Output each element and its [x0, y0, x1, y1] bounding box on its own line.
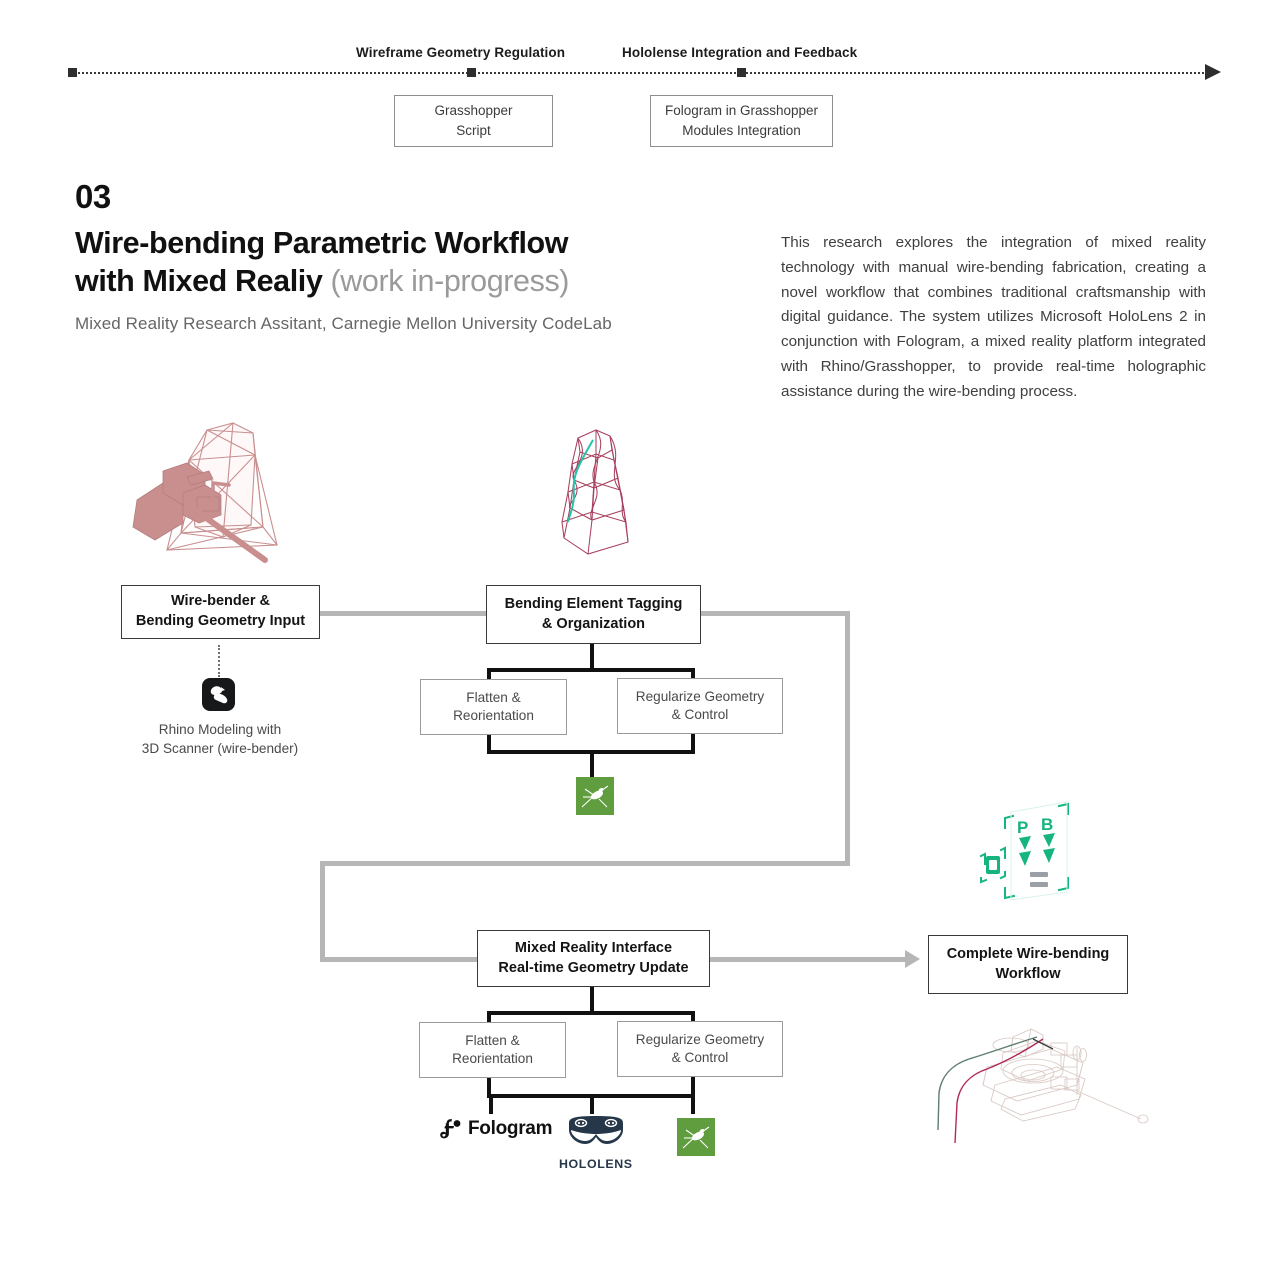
connector-dotted-rhino — [218, 645, 220, 677]
connector-mr-to-complete — [708, 957, 908, 962]
branch-logo-stem-mid — [590, 1094, 594, 1114]
node-mixed-reality-line1: Mixed Reality Interface — [498, 939, 688, 959]
node-regularize-top-line1: Regularize Geometry — [636, 688, 764, 706]
branch-logo-stem-left — [489, 1094, 493, 1114]
fologram-mark-icon — [440, 1117, 462, 1141]
timeline-box-grasshopper-script: Grasshopper Script — [394, 95, 553, 147]
node-tagging-line1: Bending Element Tagging — [505, 595, 683, 615]
timeline-marker-1 — [467, 68, 476, 77]
node-regularize-geometry-bottom[interactable]: Regularize Geometry & Control — [617, 1021, 783, 1077]
node-mixed-reality-line2: Real-time Geometry Update — [498, 959, 688, 979]
caption-rhino-modeling: Rhino Modeling with 3D Scanner (wire-ben… — [120, 720, 320, 759]
node-bending-element-tagging[interactable]: Bending Element Tagging & Organization — [486, 585, 701, 644]
branch-top-stem — [590, 641, 594, 671]
caption-rhino-line2: 3D Scanner (wire-bender) — [120, 739, 320, 758]
branch-bottom-stem — [590, 985, 594, 1014]
twisted-wireframe-model-image — [548, 418, 653, 570]
caption-rhino-line1: Rhino Modeling with — [120, 720, 320, 739]
grasshopper-icon-top[interactable] — [576, 777, 614, 815]
abstract-paragraph: This research explores the integration o… — [781, 231, 1206, 404]
connector-loop-bottom — [320, 861, 850, 866]
svg-text:P: P — [1017, 818, 1028, 837]
node-wire-bender-line2: Bending Geometry Input — [136, 612, 305, 632]
timeline-marker-2 — [737, 68, 746, 77]
node-flatten-top-line2: Reorientation — [453, 707, 534, 725]
timeline-box-1-line2: Script — [434, 121, 512, 141]
timeline-phase-label-2: Hololense Integration and Feedback — [622, 45, 857, 60]
node-complete-workflow[interactable]: Complete Wire-bending Workflow — [928, 935, 1128, 994]
connector-right-down — [845, 611, 850, 865]
project-number: 03 — [75, 180, 735, 213]
timeline-box-1-line1: Grasshopper — [434, 101, 512, 121]
node-regularize-geometry-top[interactable]: Regularize Geometry & Control — [617, 678, 783, 734]
connector-into-mixed-reality — [320, 957, 485, 962]
node-mixed-reality-interface[interactable]: Mixed Reality Interface Real-time Geomet… — [477, 930, 710, 987]
fologram-label: Fologram — [468, 1118, 552, 1140]
node-flatten-reorientation-top[interactable]: Flatten & Reorientation — [420, 679, 567, 735]
title-block: 03 Wire-bending Parametric Workflow with… — [75, 180, 735, 334]
page-title-line2: with Mixed Realiy — [75, 264, 322, 298]
svg-text:B: B — [1041, 815, 1053, 834]
timeline-box-fologram-modules: Fologram in Grasshopper Modules Integrat… — [650, 95, 833, 147]
timeline-phase-label-1: Wireframe Geometry Regulation — [356, 45, 565, 60]
branch-top-merge-stem — [590, 750, 594, 778]
connector-tagging-right — [698, 611, 850, 616]
branch-logo-stem-right — [691, 1094, 695, 1114]
fologram-logo[interactable]: Fologram — [440, 1117, 552, 1141]
timeline-axis — [73, 72, 1208, 74]
page-title-status: (work in-progress) — [331, 264, 570, 298]
timeline-header: Wireframe Geometry Regulation Hololense … — [0, 0, 1279, 170]
page-title-line1: Wire-bending Parametric Workflow — [75, 226, 568, 260]
branch-top-bar — [487, 668, 695, 672]
node-flatten-top-line1: Flatten & — [453, 689, 534, 707]
final-wirebend-wireframe-image — [925, 1015, 1170, 1170]
node-flatten-bottom-line2: Reorientation — [452, 1050, 533, 1068]
hololens-label: HOLOLENS — [559, 1157, 633, 1171]
connector-wirebender-to-tagging — [318, 611, 488, 616]
page-title: Wire-bending Parametric Workflow with Mi… — [75, 224, 735, 300]
node-tagging-line2: & Organization — [505, 615, 683, 635]
grasshopper-icon-bottom[interactable] — [677, 1118, 715, 1156]
connector-arrow-icon — [905, 950, 920, 968]
node-complete-line1: Complete Wire-bending — [947, 945, 1110, 965]
node-regularize-bottom-line1: Regularize Geometry — [636, 1031, 764, 1049]
node-complete-line2: Workflow — [947, 965, 1110, 985]
connector-left-down — [320, 861, 325, 961]
node-regularize-bottom-line2: & Control — [636, 1049, 764, 1067]
page-subtitle: Mixed Reality Research Assitant, Carnegi… — [75, 314, 735, 334]
hologram-ui-panel-image: P B — [975, 800, 1075, 915]
node-flatten-bottom-line1: Flatten & — [452, 1032, 533, 1050]
node-wire-bender-input[interactable]: Wire-bender & Bending Geometry Input — [121, 585, 320, 639]
timeline-marker-start — [68, 68, 77, 77]
node-regularize-top-line2: & Control — [636, 706, 764, 724]
timeline-arrow-icon — [1205, 64, 1221, 80]
timeline-box-2-line1: Fologram in Grasshopper — [665, 101, 818, 121]
branch-bottom-bar — [487, 1011, 695, 1015]
rhino-icon[interactable] — [202, 678, 235, 711]
node-flatten-reorientation-bottom[interactable]: Flatten & Reorientation — [419, 1022, 566, 1078]
node-wire-bender-line1: Wire-bender & — [136, 592, 305, 612]
hololens-icon[interactable] — [565, 1113, 627, 1151]
timeline-box-2-line2: Modules Integration — [665, 121, 818, 141]
wire-bender-model-image — [125, 405, 340, 580]
